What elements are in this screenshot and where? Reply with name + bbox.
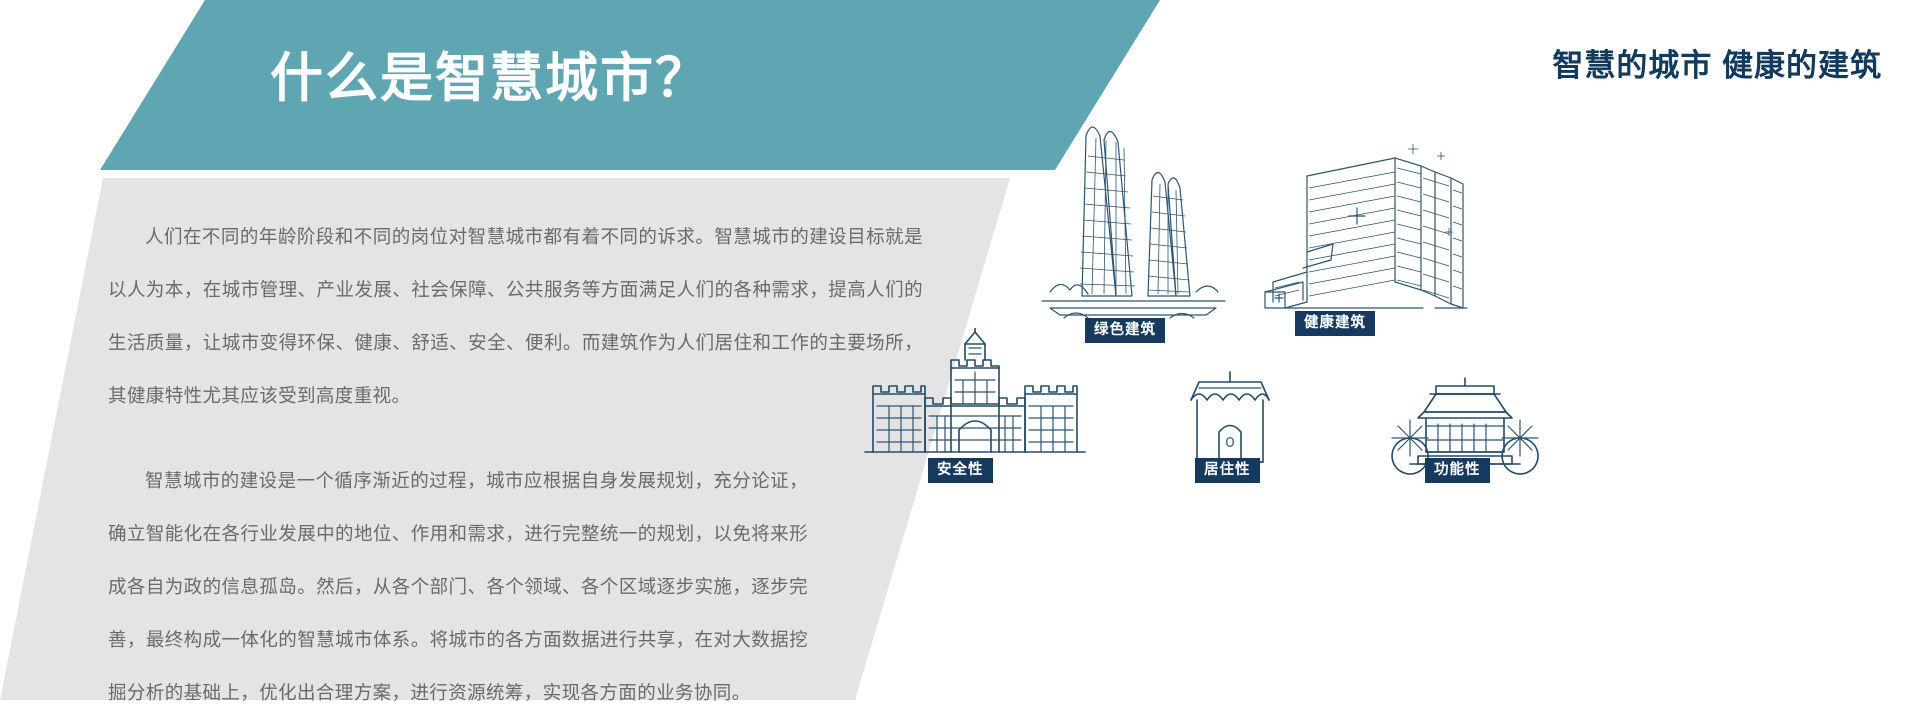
illustration-group: 绿色建筑 [1020,96,1920,656]
label-functionality: 功能性 [1425,458,1490,483]
paragraph-1: 人们在不同的年龄阶段和不同的岗位对智慧城市都有着不同的诉求。智慧城市的建设目标就… [108,210,923,422]
label-safety: 安全性 [928,458,993,483]
label-green-building: 绿色建筑 [1085,318,1165,343]
castle-icon [855,328,1095,458]
paragraph-2: 智慧城市的建设是一个循序渐近的过程，城市应根据自身发展规划，充分论证，确立智能化… [108,454,808,719]
twin-towers-icon [1020,96,1260,326]
label-livability: 居住性 [1195,458,1260,483]
body-text-container: 人们在不同的年龄阶段和不同的岗位对智慧城市都有着不同的诉求。智慧城市的建设目标就… [108,210,923,719]
slide-canvas: 什么是智慧城市？ 智慧的城市 健康的建筑 人们在不同的年龄阶段和不同的岗位对智慧… [0,0,1920,700]
label-health-building: 健康建筑 [1295,311,1375,336]
hospital-building-icon [1245,132,1475,332]
page-title: 什么是智慧城市？ [270,36,710,112]
tagline-heading: 智慧的城市 健康的建筑 [1552,40,1882,85]
